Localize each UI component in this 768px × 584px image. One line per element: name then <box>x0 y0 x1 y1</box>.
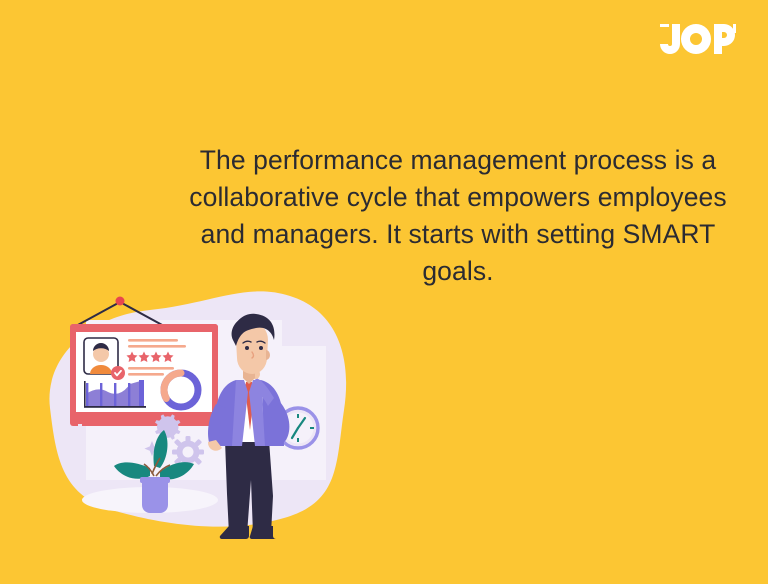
verified-badge-icon <box>111 366 125 380</box>
slide-canvas: The performance management process is a … <box>0 0 768 584</box>
quote-text: The performance management process is a … <box>170 142 746 290</box>
performance-review-illustration <box>40 288 360 550</box>
jop-logo <box>658 22 738 56</box>
